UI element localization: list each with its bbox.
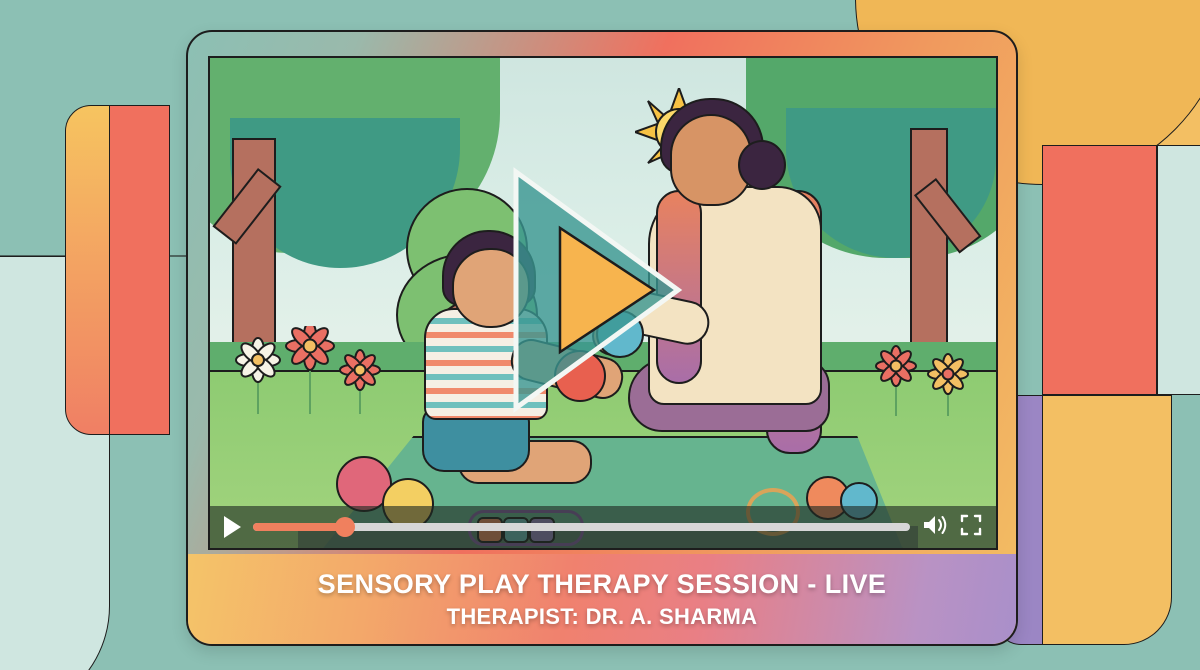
video-scene bbox=[210, 58, 996, 548]
video-viewport[interactable] bbox=[208, 56, 998, 550]
background-yellow-panel-right bbox=[1042, 395, 1172, 645]
progress-bar[interactable] bbox=[253, 523, 910, 531]
caption-subtitle: THERAPIST: DR. A. SHARMA bbox=[447, 604, 758, 630]
play-overlay-button[interactable] bbox=[502, 162, 688, 418]
screenshot-root: SENSORY PLAY THERAPY SESSION - LIVE THER… bbox=[0, 0, 1200, 670]
background-gradient-pill-left bbox=[65, 105, 110, 435]
therapist-hair-bun bbox=[738, 140, 786, 190]
background-mint-panel-right bbox=[1157, 145, 1200, 395]
volume-icon[interactable] bbox=[922, 514, 948, 541]
background-coral-panel-left bbox=[108, 105, 170, 435]
caption-title: SENSORY PLAY THERAPY SESSION - LIVE bbox=[318, 569, 887, 600]
flower-cluster-left bbox=[228, 326, 398, 418]
background-coral-panel-right bbox=[1042, 145, 1157, 395]
caption-banner: SENSORY PLAY THERAPY SESSION - LIVE THER… bbox=[188, 554, 1016, 644]
fullscreen-icon[interactable] bbox=[960, 514, 982, 541]
progress-knob[interactable] bbox=[335, 517, 355, 537]
progress-fill bbox=[253, 523, 345, 531]
player-controls-bar bbox=[210, 506, 996, 548]
video-player-frame: SENSORY PLAY THERAPY SESSION - LIVE THER… bbox=[186, 30, 1018, 646]
flower-cluster-right bbox=[862, 342, 982, 420]
play-button[interactable] bbox=[224, 516, 241, 538]
